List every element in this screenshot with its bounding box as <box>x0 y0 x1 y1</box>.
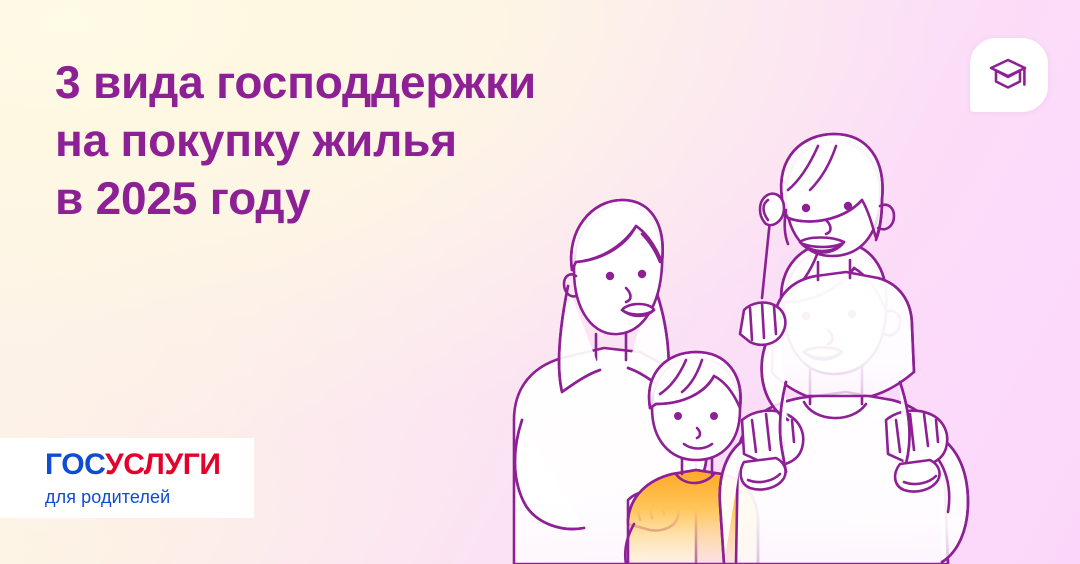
gosuslugi-logo: ГОСУСЛУГИ для родителей <box>0 438 254 518</box>
banner-root: 3 вида господдержки на покупку жилья в 2… <box>0 0 1080 564</box>
logo-part-gos: ГОС <box>45 448 105 481</box>
graduation-cap-icon <box>988 56 1030 94</box>
family-line-art <box>500 120 1080 564</box>
family-illustration <box>500 120 1080 564</box>
logo-subtitle: для родителей <box>45 488 254 506</box>
logo-part-uslugi: УСЛУГИ <box>105 448 220 481</box>
logo-wordmark: ГОСУСЛУГИ <box>45 450 254 480</box>
graduation-cap-badge <box>970 38 1048 112</box>
